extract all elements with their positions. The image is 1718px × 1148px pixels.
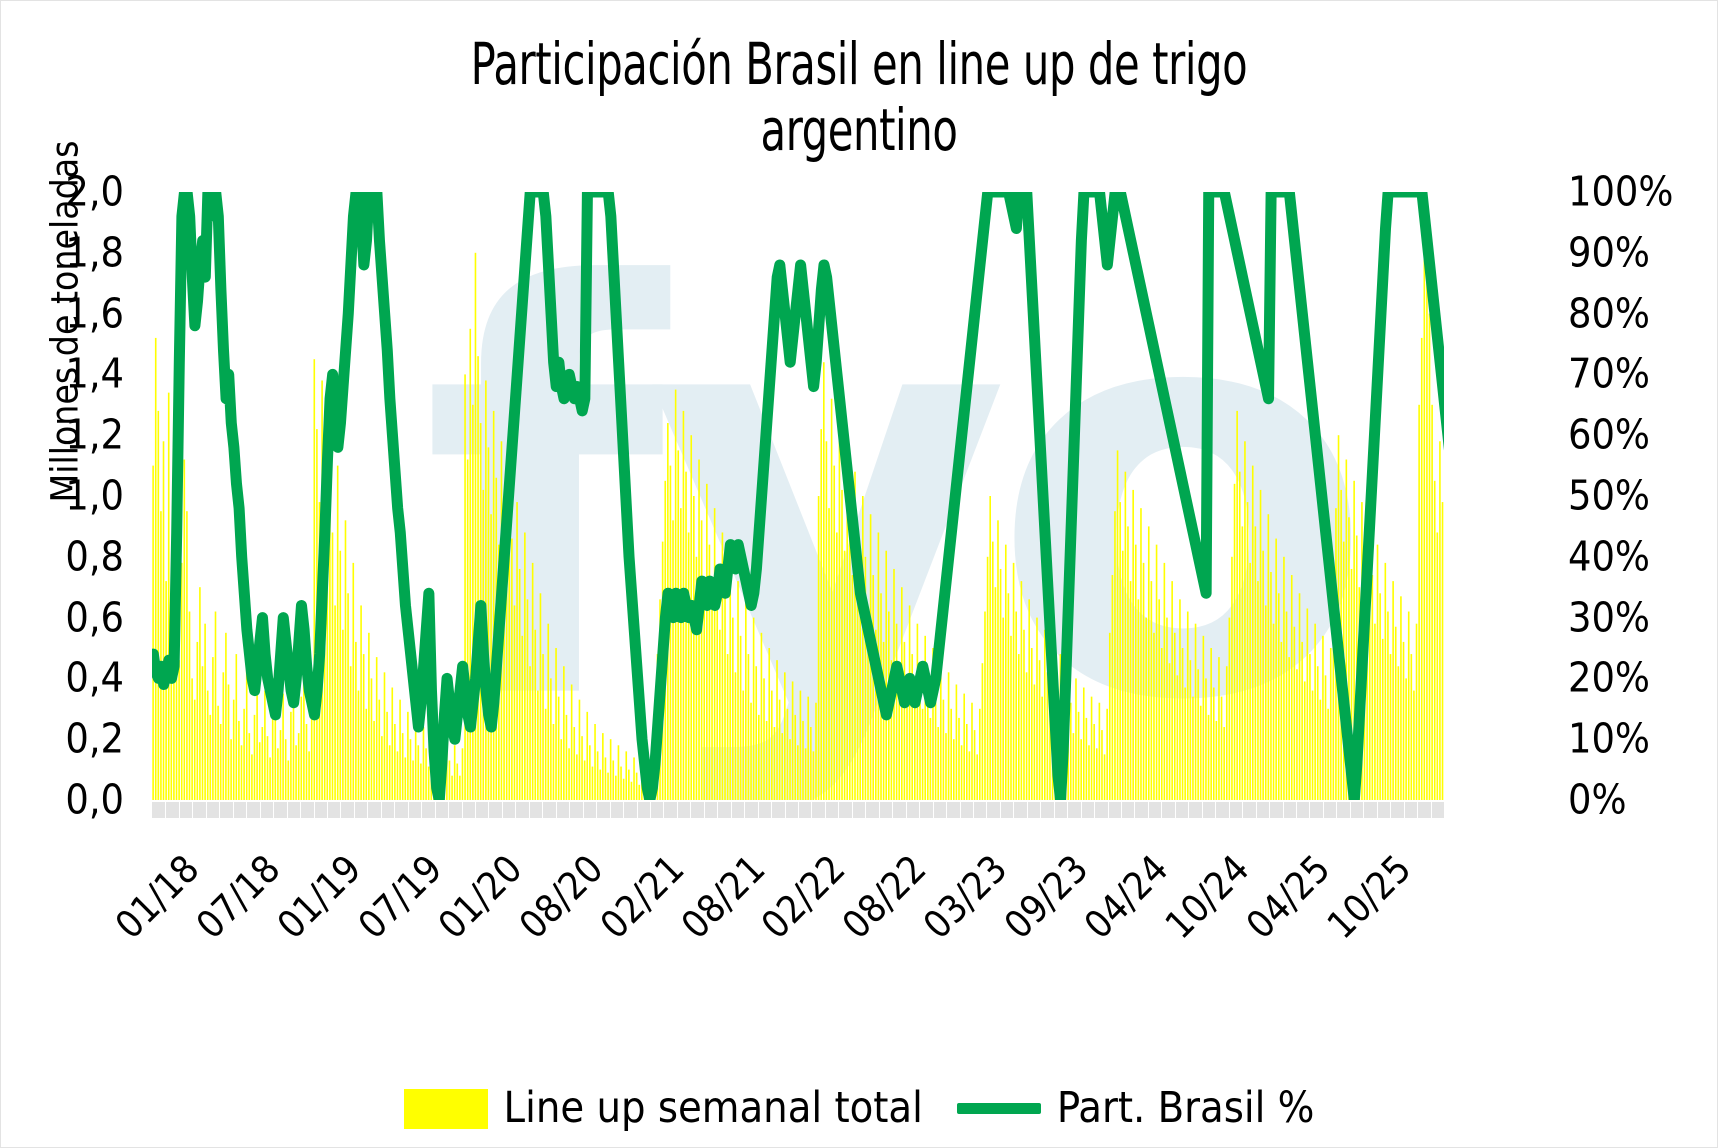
x-axis-tick-icon	[1283, 802, 1284, 818]
x-axis-tick-icon	[354, 802, 355, 818]
x-axis-tick-icon	[340, 802, 341, 818]
legend-swatch-line-icon	[957, 1103, 1041, 1114]
x-axis-tick-icon	[260, 802, 261, 818]
x-axis-tick-icon	[1269, 802, 1270, 818]
y-axis-left-tick: 2,0	[14, 172, 124, 213]
x-axis-tick-icon	[1148, 802, 1149, 818]
plot-area: fyo	[152, 192, 1444, 800]
x-axis-tick-icon	[906, 802, 907, 818]
x-axis-tick-icon	[219, 802, 220, 818]
x-axis-tick-icon	[623, 802, 624, 818]
x-axis-tick-icon	[825, 802, 826, 818]
x-axis-tick-icon	[327, 802, 328, 818]
x-axis-tick-icon	[1094, 802, 1095, 818]
x-axis-tick-icon	[744, 802, 745, 818]
y-axis-right-tick: 30%	[1568, 597, 1718, 638]
x-axis-tick-icon	[165, 802, 166, 818]
x-axis-tick-icon	[246, 802, 247, 818]
x-axis-tick-icon	[1417, 802, 1418, 818]
y-axis-left-tick: 0,6	[14, 597, 124, 638]
x-axis-tick-icon	[986, 802, 987, 818]
x-axis-tick-icon	[206, 802, 207, 818]
x-axis-tick-icon	[1390, 802, 1391, 818]
y-axis-left-tick: 1,2	[14, 415, 124, 456]
x-axis-tick-icon	[542, 802, 543, 818]
x-axis-tick-band	[152, 802, 1444, 818]
x-axis-tick-icon	[569, 802, 570, 818]
x-axis-tick-icon	[462, 802, 463, 818]
x-axis-tick-icon	[637, 802, 638, 818]
x-axis-tick-icon	[394, 802, 395, 818]
x-axis-tick-icon	[421, 802, 422, 818]
x-axis-tick-icon	[515, 802, 516, 818]
x-axis-tick-icon	[556, 802, 557, 818]
x-axis-tick-icon	[192, 802, 193, 818]
x-axis-tick-icon	[1377, 802, 1378, 818]
x-axis-tick-icon	[448, 802, 449, 818]
x-axis-tick-icon	[1431, 802, 1432, 818]
x-axis-tick-icon	[1350, 802, 1351, 818]
x-axis-tick-icon	[1040, 802, 1041, 818]
x-axis-tick-icon	[1363, 802, 1364, 818]
y-axis-left-tick: 0,2	[14, 719, 124, 760]
y-axis-left-tick: 0,8	[14, 536, 124, 577]
x-axis-tick-icon	[1215, 802, 1216, 818]
x-axis-tick-icon	[1161, 802, 1162, 818]
x-axis-tick-icon	[650, 802, 651, 818]
x-axis-tick-icon	[1296, 802, 1297, 818]
x-axis-tick-icon	[811, 802, 812, 818]
y-axis-left-tick: 0,0	[14, 780, 124, 821]
y-axis-right-tick: 80%	[1568, 293, 1718, 334]
x-axis-tick-icon	[704, 802, 705, 818]
plot-svg: fyo	[152, 192, 1444, 800]
x-axis-tick-icon	[381, 802, 382, 818]
x-axis-tick-icon	[475, 802, 476, 818]
x-axis-tick-icon	[529, 802, 530, 818]
x-axis-tick-icon	[663, 802, 664, 818]
chart-title: Participación Brasil en line up de trigo…	[172, 32, 1546, 163]
x-axis-tick-icon	[798, 802, 799, 818]
x-axis-tick-icon	[933, 802, 934, 818]
x-axis-tick-icon	[865, 802, 866, 818]
x-axis-tick-icon	[879, 802, 880, 818]
chart-legend: Line up semanal total Part. Brasil %	[0, 1087, 1718, 1130]
x-axis-tick-icon	[1229, 802, 1230, 818]
x-axis-tick-icon	[1256, 802, 1257, 818]
x-axis-tick-icon	[1404, 802, 1405, 818]
x-axis-tick-icon	[1027, 802, 1028, 818]
x-axis-tick-icon	[367, 802, 368, 818]
x-axis-tick-icon	[1067, 802, 1068, 818]
y-axis-left-tick: 0,4	[14, 658, 124, 699]
x-axis-tick-icon	[1000, 802, 1001, 818]
x-axis-tick-icon	[1242, 802, 1243, 818]
x-axis-tick-icon	[1134, 802, 1135, 818]
y-axis-right-tick: 20%	[1568, 658, 1718, 699]
x-axis-tick-icon	[946, 802, 947, 818]
y-axis-right: 100%90%80%70%60%50%40%30%20%10%0%	[1568, 0, 1718, 1148]
x-axis-tick-icon	[314, 802, 315, 818]
x-axis-tick-icon	[233, 802, 234, 818]
y-axis-right-tick: 0%	[1568, 780, 1718, 821]
x-axis-tick-icon	[1108, 802, 1109, 818]
legend-label-line: Part. Brasil %	[1057, 1087, 1315, 1130]
x-axis-tick-icon	[408, 802, 409, 818]
x-axis-tick-icon	[731, 802, 732, 818]
x-axis-tick-icon	[1309, 802, 1310, 818]
x-axis-tick-icon	[1202, 802, 1203, 818]
x-axis-tick-icon	[502, 802, 503, 818]
x-axis-tick-icon	[960, 802, 961, 818]
x-axis-tick-icon	[583, 802, 584, 818]
x-axis-tick-icon	[1013, 802, 1014, 818]
y-axis-right-tick: 100%	[1568, 172, 1718, 213]
x-axis-tick-icon	[300, 802, 301, 818]
y-axis-right-tick: 50%	[1568, 476, 1718, 517]
x-axis-tick-icon	[287, 802, 288, 818]
y-axis-left-tick: 1,4	[14, 354, 124, 395]
x-axis-tick-icon	[717, 802, 718, 818]
x-axis-tick-icon	[435, 802, 436, 818]
y-axis-right-tick: 70%	[1568, 354, 1718, 395]
x-axis-tick-icon	[1323, 802, 1324, 818]
y-axis-left-tick: 1,8	[14, 232, 124, 273]
x-axis-tick-icon	[596, 802, 597, 818]
x-axis-tick-icon	[1081, 802, 1082, 818]
x-axis-tick-icon	[838, 802, 839, 818]
x-axis-tick-icon	[1175, 802, 1176, 818]
x-axis-tick-icon	[771, 802, 772, 818]
x-axis-tick-icon	[273, 802, 274, 818]
x-axis-tick-icon	[488, 802, 489, 818]
y-axis-right-tick: 60%	[1568, 415, 1718, 456]
y-axis-right-tick: 90%	[1568, 232, 1718, 273]
legend-swatch-bar-icon	[404, 1089, 488, 1129]
x-axis-tick-icon	[852, 802, 853, 818]
x-axis-tick-icon	[179, 802, 180, 818]
y-axis-left-tick: 1,6	[14, 293, 124, 334]
x-axis-tick-icon	[677, 802, 678, 818]
x-axis-tick-icon	[758, 802, 759, 818]
x-axis-tick-icon	[892, 802, 893, 818]
x-axis-tick-icon	[1336, 802, 1337, 818]
x-axis-tick-icon	[919, 802, 920, 818]
x-axis-tick-icon	[1054, 802, 1055, 818]
y-axis-right-tick: 10%	[1568, 719, 1718, 760]
x-axis-tick-icon	[1188, 802, 1189, 818]
x-axis-tick-icon	[610, 802, 611, 818]
x-axis-tick-icon	[690, 802, 691, 818]
x-axis-tick-icon	[785, 802, 786, 818]
legend-item-bars[interactable]: Line up semanal total	[404, 1087, 923, 1130]
legend-item-line[interactable]: Part. Brasil %	[957, 1087, 1315, 1130]
y-axis-left-tick: 1,0	[14, 476, 124, 517]
legend-label-bars: Line up semanal total	[504, 1087, 923, 1130]
y-axis-right-tick: 40%	[1568, 536, 1718, 577]
x-axis-tick-icon	[973, 802, 974, 818]
x-axis-tick-icon	[1121, 802, 1122, 818]
